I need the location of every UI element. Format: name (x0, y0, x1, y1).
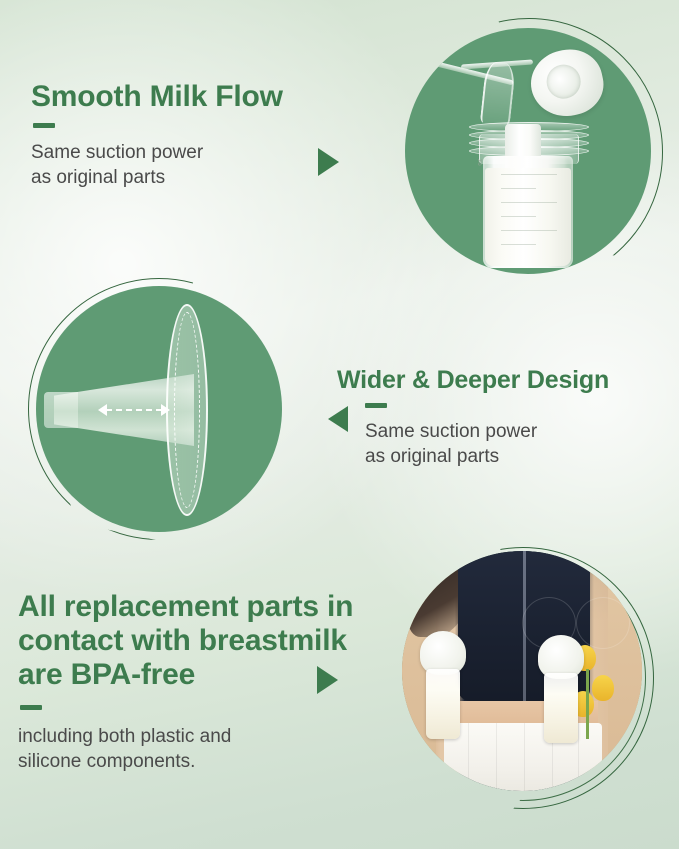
section-wider-deeper-design: Wider & Deeper Design Same suction power… (337, 366, 667, 469)
section-2-subtext-line1: Same suction power (365, 419, 667, 444)
dash-divider-icon-3 (20, 705, 42, 710)
bottle-oz-label: oz (478, 158, 484, 165)
model-image-circle (402, 551, 642, 791)
section-1-headline: Smooth Milk Flow (31, 80, 331, 114)
flange-rim-dashed-outline (174, 312, 200, 508)
section-2-headline: Wider & Deeper Design (337, 366, 667, 395)
bottle-connector (480, 61, 516, 126)
model-photo-content (402, 551, 642, 791)
flange-image-circle (36, 286, 282, 532)
top-cup-right (576, 597, 630, 649)
pump-bottle-left (420, 631, 466, 739)
section-1-subtext-line2: as original parts (31, 165, 331, 190)
section-1-subtext-line1: Same suction power (31, 140, 331, 165)
pump-connector-head (525, 43, 609, 123)
triangle-right-icon-3 (317, 666, 338, 694)
section-3-subtext-line1: including both plastic and (18, 724, 368, 749)
section-3-headline-line3: are BPA-free (18, 658, 368, 692)
width-measurement-arrow-icon (98, 404, 170, 416)
pump-bottle-right (538, 635, 584, 743)
infographic-canvas: oz Smooth Milk Flow Same suction power a… (0, 0, 679, 849)
section-3-headline-line1: All replacement parts in (18, 590, 368, 624)
section-2-subtext-line2: as original parts (365, 444, 667, 469)
section-3-headline-line2: contact with breastmilk (18, 624, 368, 658)
section-3-subtext-line2: silicone components. (18, 749, 368, 774)
section-smooth-milk-flow: Smooth Milk Flow Same suction power as o… (31, 80, 331, 190)
section-bpa-free: All replacement parts in contact with br… (18, 590, 368, 774)
breast-shield-flange-photo (28, 278, 294, 544)
triangle-left-icon-2 (328, 406, 348, 432)
dash-divider-icon-1 (33, 123, 55, 128)
bottle-image-circle: oz (405, 28, 651, 274)
model-wearing-pumps-photo (398, 545, 670, 817)
triangle-right-icon-1 (318, 148, 339, 176)
bottle-measurement-ticks (501, 174, 557, 262)
dash-divider-icon-2 (365, 403, 387, 408)
breast-pump-bottle-photo: oz (403, 18, 679, 294)
